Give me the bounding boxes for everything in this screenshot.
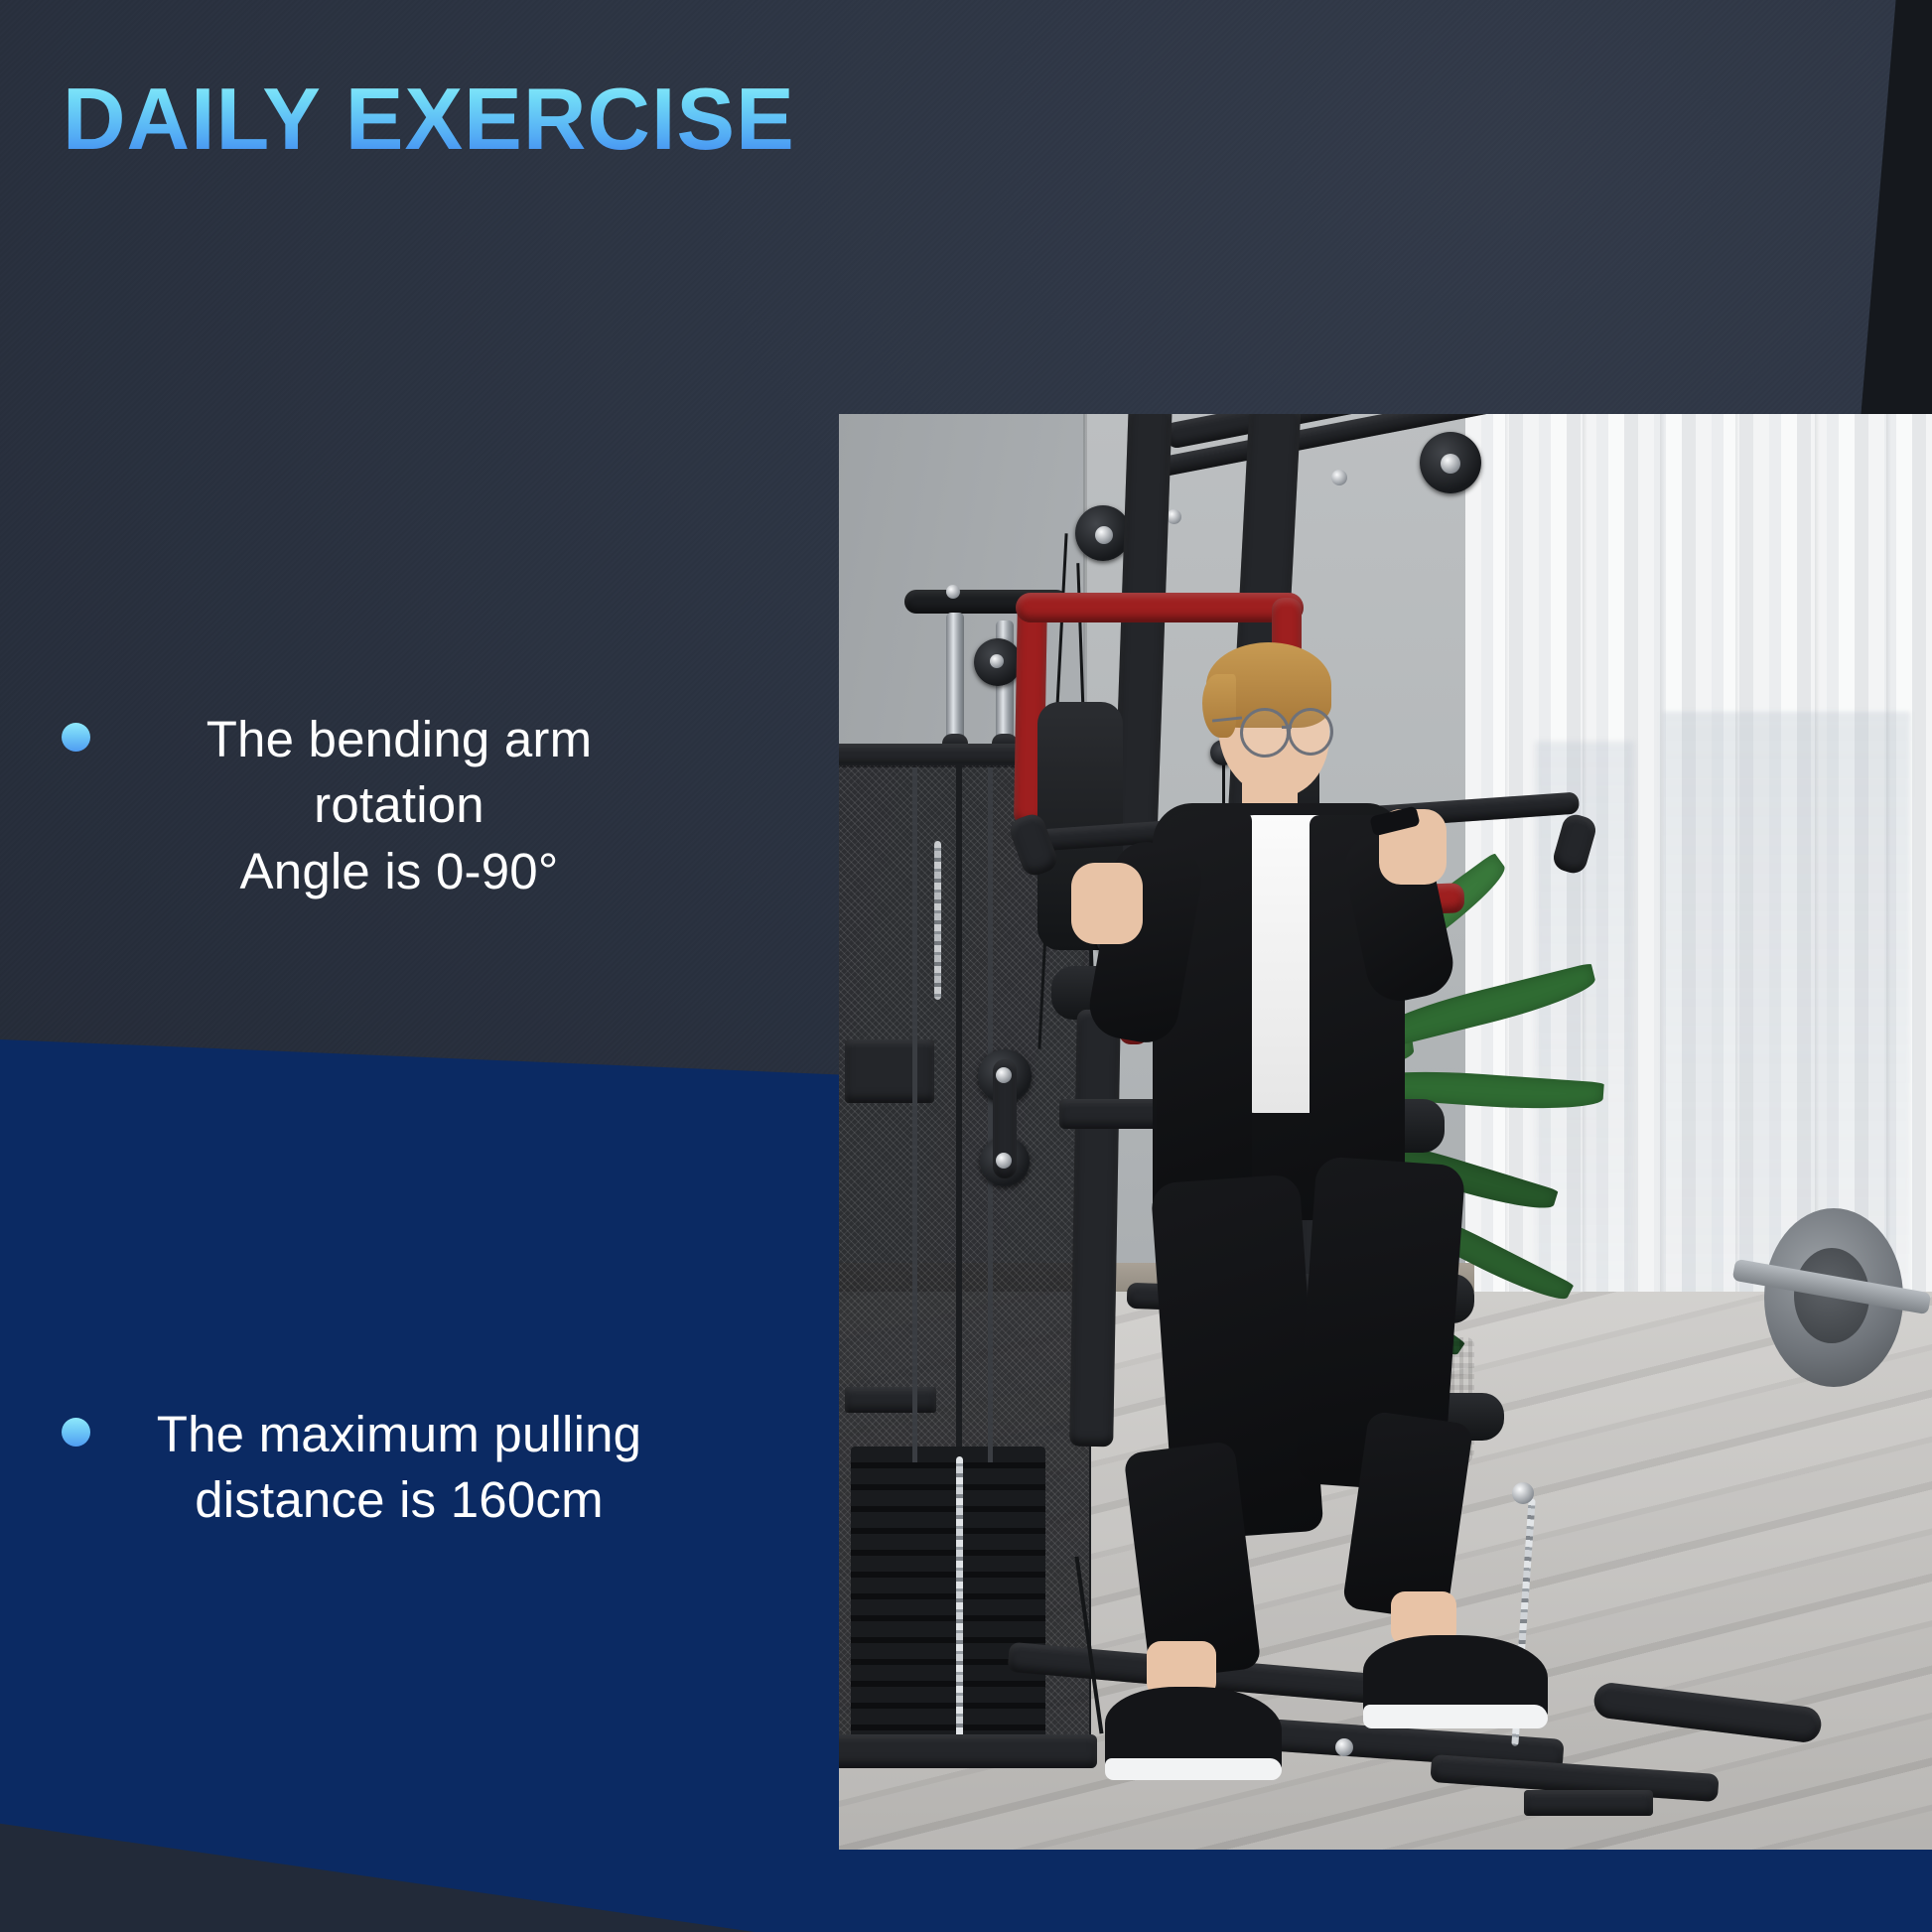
feature-text-rotation-angle: The bending arm rotation Angle is 0-90°	[136, 707, 662, 904]
glasses-lens-right	[1288, 708, 1333, 756]
bullet-dot-icon	[62, 1418, 90, 1447]
page-title: DAILY EXERCISE	[63, 75, 795, 163]
weight-chain	[956, 1456, 963, 1754]
feature-item-rotation-angle: The bending arm rotation Angle is 0-90°	[62, 707, 662, 904]
feature-text-pulling-distance: The maximum pulling distance is 160cm	[136, 1402, 662, 1534]
feature-line-1: The maximum pulling	[157, 1406, 641, 1462]
glasses-lens-left	[1240, 708, 1290, 758]
feature-line-2: distance is 160cm	[195, 1471, 604, 1528]
product-photo	[839, 414, 1932, 1850]
feature-item-pulling-distance: The maximum pulling distance is 160cm	[62, 1402, 662, 1534]
chrome-post	[946, 613, 964, 742]
feature-line-2: Angle is 0-90°	[240, 843, 559, 899]
weight-chain	[934, 841, 941, 1000]
left-hand	[1071, 863, 1143, 944]
poster-canvas: DAILY EXERCISE The bending arm rotation …	[0, 0, 1932, 1932]
feature-line-1: The bending arm rotation	[207, 711, 593, 833]
bullet-dot-icon	[62, 723, 90, 752]
weight-plates	[851, 1447, 1045, 1744]
